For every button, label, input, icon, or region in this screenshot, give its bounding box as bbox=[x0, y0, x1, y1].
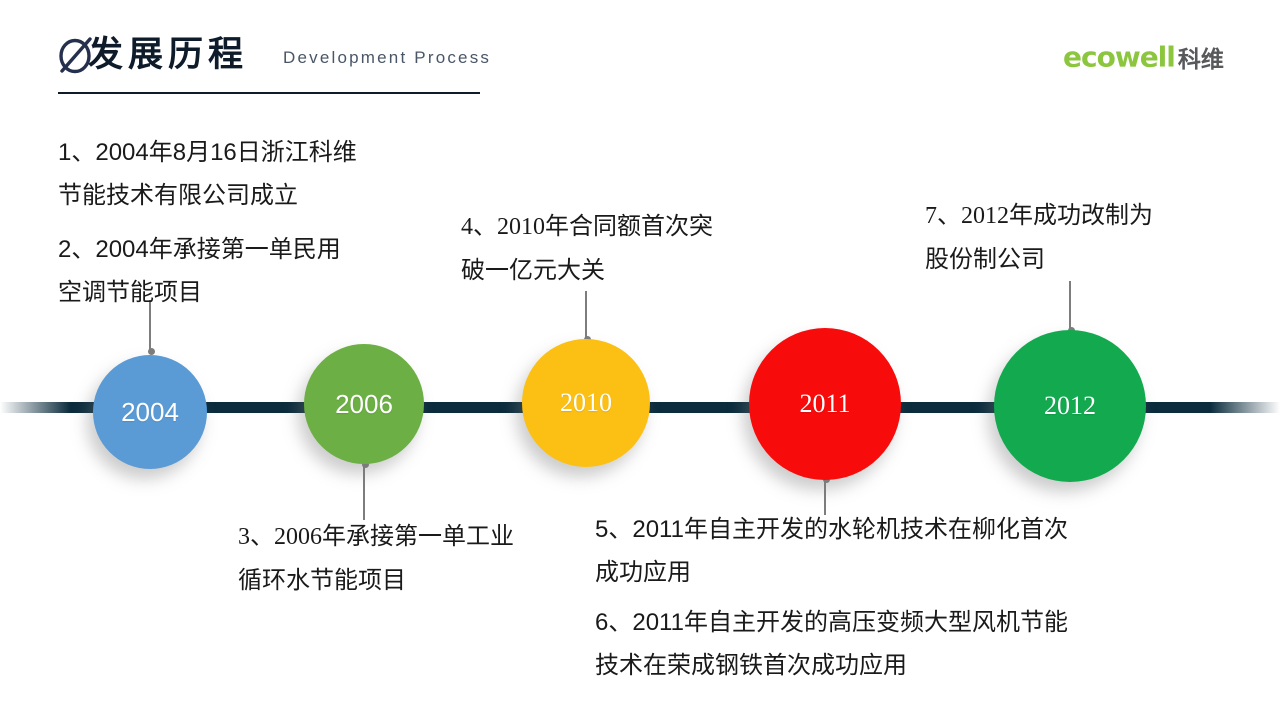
node-2010[interactable]: 2010 bbox=[522, 339, 650, 467]
entry-2-line-1: 2、2004年承接第一单民用 bbox=[58, 228, 341, 271]
entry-7-line-1: 7、2012年成功改制为 bbox=[925, 194, 1153, 238]
node-2011-label: 2011 bbox=[799, 391, 850, 417]
node-2010-label: 2010 bbox=[560, 390, 612, 416]
entry-3-line-1: 3、2006年承接第一单工业 bbox=[238, 515, 514, 559]
entry-1: 1、2004年8月16日浙江科维节能技术有限公司成立 bbox=[58, 131, 357, 217]
entry-5-line-1: 5、2011年自主开发的水轮机技术在柳化首次 bbox=[595, 508, 1068, 551]
page-subtitle: Development Process bbox=[283, 45, 491, 71]
entry-5-line-2: 成功应用 bbox=[595, 551, 1068, 594]
entry-4-line-1: 4、2010年合同额首次突 bbox=[461, 205, 713, 249]
slide-root: 发展历程 Development Process ecowell科维 20042… bbox=[0, 0, 1280, 720]
leader-2010 bbox=[585, 291, 587, 341]
logo-wordmark-cn: 科维 bbox=[1178, 46, 1224, 72]
timeline-bar-fade-right bbox=[1210, 402, 1280, 413]
entry-1-line-1: 1、2004年8月16日浙江科维 bbox=[58, 131, 357, 174]
entry-7-line-2: 股份制公司 bbox=[925, 238, 1153, 281]
node-2006-label: 2006 bbox=[335, 391, 393, 417]
entry-7: 7、2012年成功改制为股份制公司 bbox=[925, 194, 1153, 281]
entry-2: 2、2004年承接第一单民用空调节能项目 bbox=[58, 228, 341, 314]
ecowell-logo: ecowell科维 bbox=[1063, 40, 1224, 70]
leader-2012 bbox=[1069, 281, 1071, 332]
timeline-bar-fade-left bbox=[0, 402, 70, 413]
header-divider bbox=[58, 92, 480, 94]
leader-2004-dot bbox=[148, 348, 155, 355]
entry-6-line-1: 6、2011年自主开发的高压变频大型风机节能 bbox=[595, 601, 1068, 644]
node-2011[interactable]: 2011 bbox=[749, 328, 901, 480]
entry-3: 3、2006年承接第一单工业循环水节能项目 bbox=[238, 515, 514, 602]
node-2012-label: 2012 bbox=[1044, 393, 1096, 419]
entry-5: 5、2011年自主开发的水轮机技术在柳化首次成功应用 bbox=[595, 508, 1068, 594]
entry-4: 4、2010年合同额首次突破一亿元大关 bbox=[461, 205, 713, 292]
entry-4-line-2: 破一亿元大关 bbox=[461, 249, 713, 292]
entry-2-line-2: 空调节能项目 bbox=[58, 271, 341, 314]
logo-wordmark: ecowell bbox=[1063, 41, 1175, 74]
page-title: 发展历程 bbox=[88, 33, 248, 77]
node-2004[interactable]: 2004 bbox=[93, 355, 207, 469]
node-2004-label: 2004 bbox=[121, 399, 179, 425]
entry-6: 6、2011年自主开发的高压变频大型风机节能技术在荣成钢铁首次成功应用 bbox=[595, 601, 1068, 687]
leader-2006 bbox=[363, 463, 365, 520]
node-2012[interactable]: 2012 bbox=[994, 330, 1146, 482]
node-2006[interactable]: 2006 bbox=[304, 344, 424, 464]
entry-3-line-2: 循环水节能项目 bbox=[238, 559, 514, 602]
entry-1-line-2: 节能技术有限公司成立 bbox=[58, 174, 357, 217]
entry-6-line-2: 技术在荣成钢铁首次成功应用 bbox=[595, 644, 1068, 687]
